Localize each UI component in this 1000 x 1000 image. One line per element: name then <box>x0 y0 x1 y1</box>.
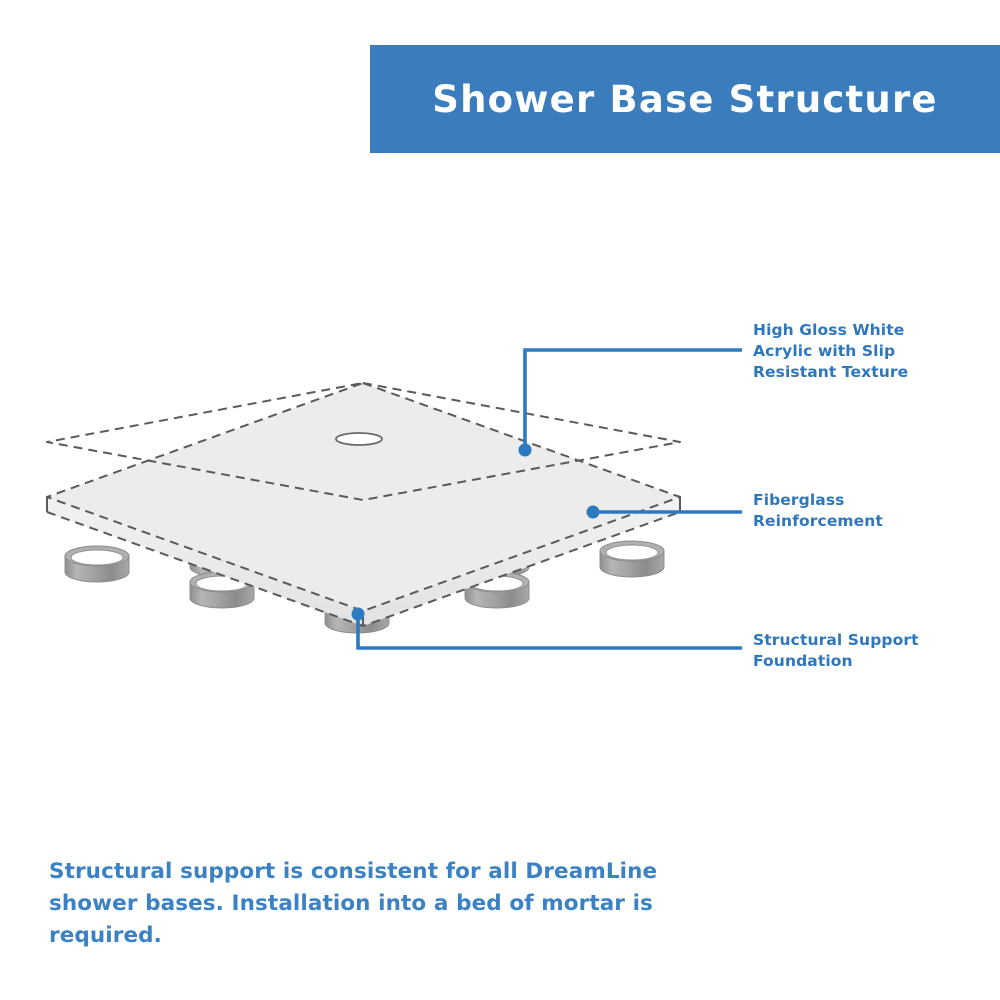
diagram-page: Shower Base Structure <box>0 0 1000 1000</box>
leader-dot-fiberglass <box>587 506 600 519</box>
support-ring <box>65 546 129 582</box>
footer-caption: Structural support is consistent for all… <box>49 856 669 951</box>
leader-line-support <box>358 614 742 648</box>
drain-opening-icon <box>336 433 382 445</box>
leader-dot-support <box>352 608 365 621</box>
callout-label-structural-support: Structural Support Foundation <box>753 630 985 672</box>
callout-label-acrylic: High Gloss White Acrylic with Slip Resis… <box>753 320 985 383</box>
exploded-diagram: High Gloss White Acrylic with Slip Resis… <box>0 0 1000 1000</box>
leader-dot-acrylic <box>519 444 532 457</box>
callout-label-fiberglass: Fiberglass Reinforcement <box>753 490 985 532</box>
support-ring <box>600 541 664 577</box>
